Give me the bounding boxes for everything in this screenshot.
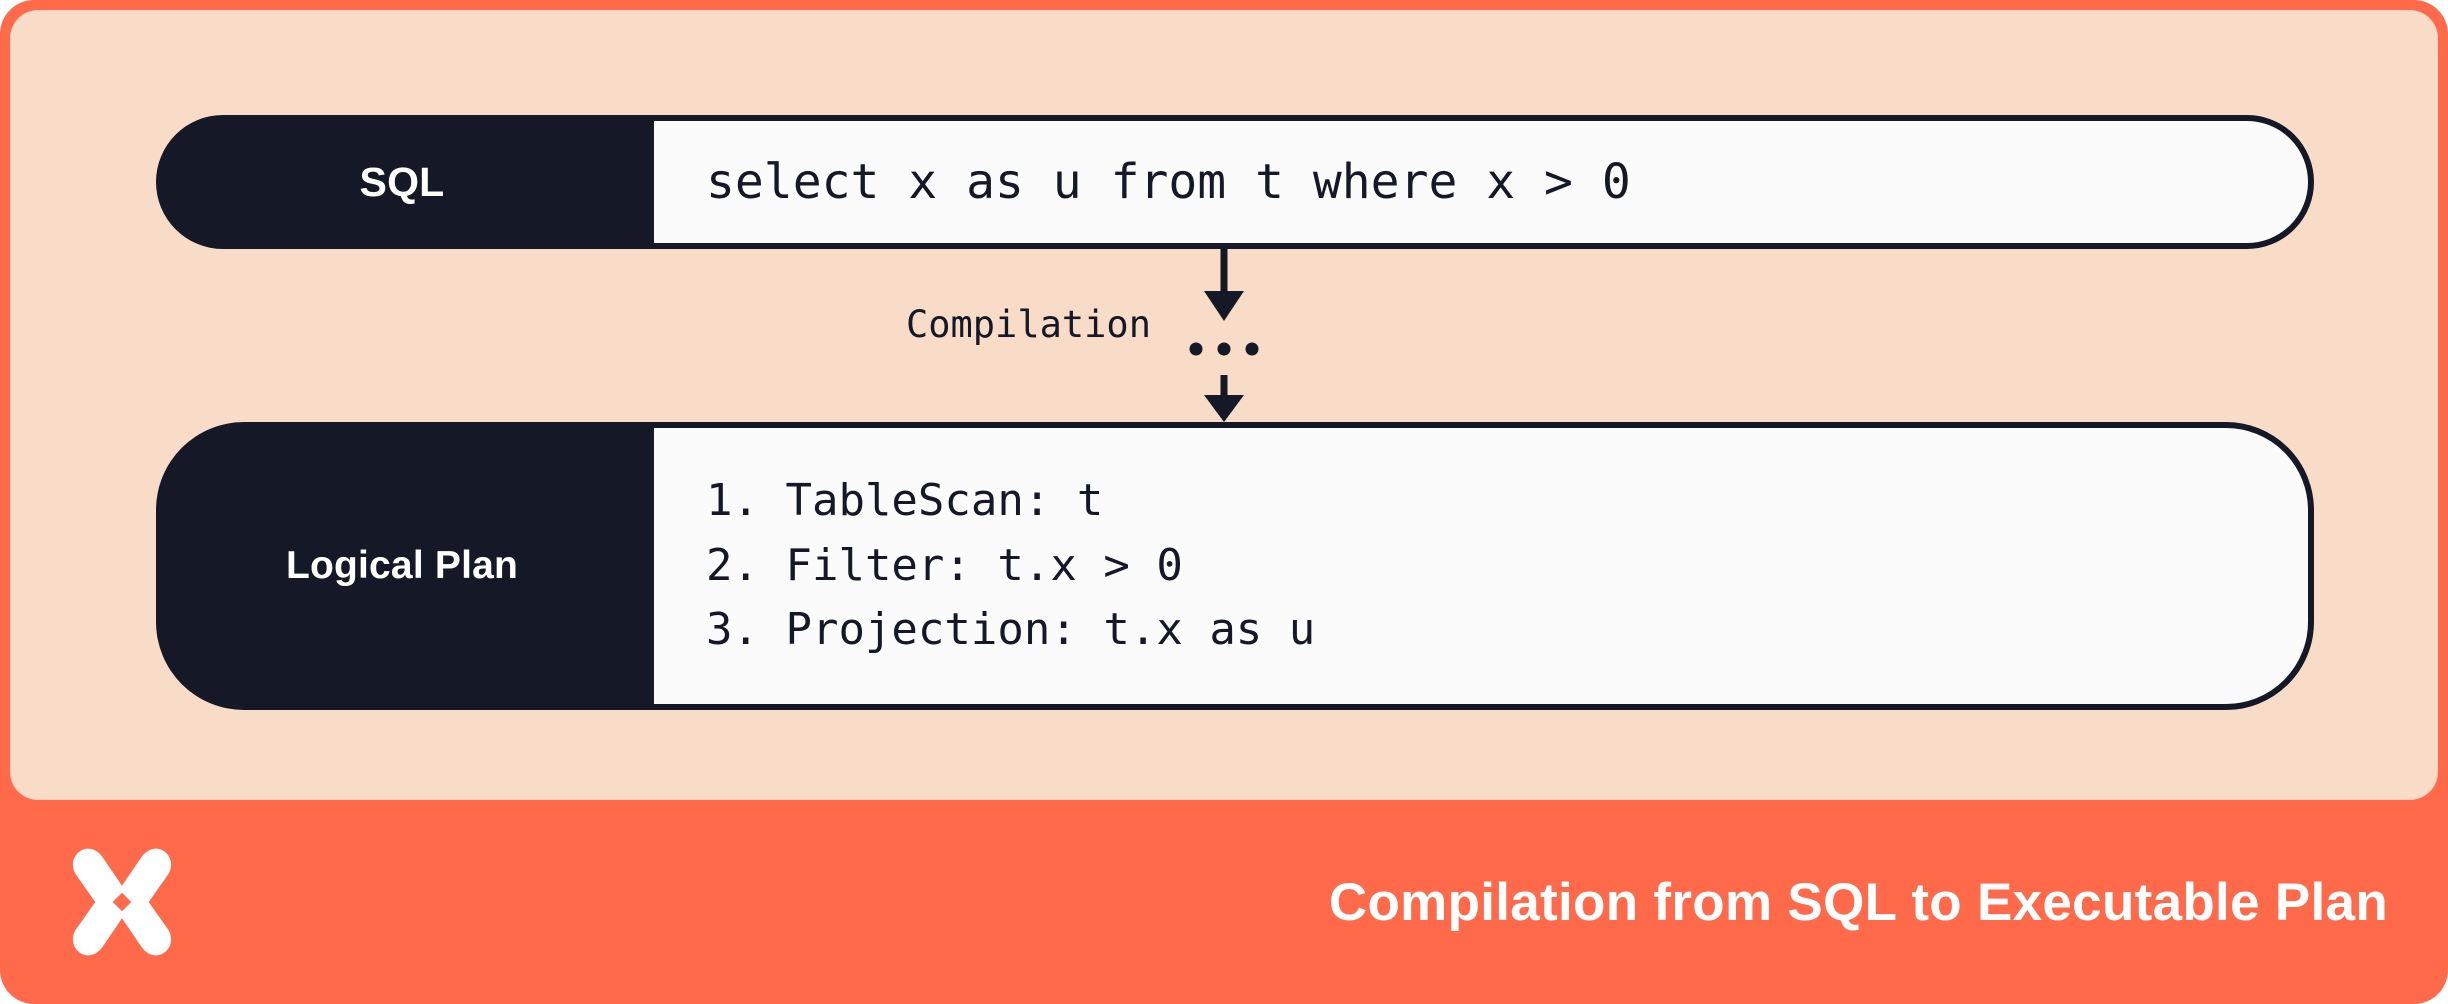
row-label-sql-text: SQL [360,159,445,206]
slide-footer: Compilation from SQL to Executable Plan [0,800,2448,1004]
plan-step-2: 2. Filter: t.x > 0 [706,534,2256,599]
diagram-panel: SQL select x as u from t where x > 0 Com… [10,10,2438,800]
compilation-arrows-svg [1091,249,1511,422]
row-value-sql: select x as u from t where x > 0 [648,115,2314,249]
row-label-logical-plan: Logical Plan [156,422,648,710]
plan-step-3: 3. Projection: t.x as u [706,598,2256,663]
arrow-down-upper [1204,249,1244,321]
arrow-down-lower [1204,375,1244,422]
compilation-label: Compilation [811,303,1151,346]
compilation-connector: Compilation [1091,249,1511,422]
row-value-logical-plan: 1. TableScan: t 2. Filter: t.x > 0 3. Pr… [648,422,2314,710]
ellipsis-dots [1190,343,1259,356]
diagram-row-logical-plan: Logical Plan 1. TableScan: t 2. Filter: … [156,422,2314,710]
slide-card: SQL select x as u from t where x > 0 Com… [0,0,2448,1004]
row-label-logical-plan-text: Logical Plan [286,544,518,588]
plan-step-1: 1. TableScan: t [706,469,2256,534]
row-label-sql: SQL [156,115,648,249]
footer-title: Compilation from SQL to Executable Plan [1329,872,2388,933]
sql-code-line-1: select x as u from t where x > 0 [706,157,2256,207]
diagram-row-sql: SQL select x as u from t where x > 0 [156,115,2314,249]
x-star-logo-icon [64,844,180,960]
